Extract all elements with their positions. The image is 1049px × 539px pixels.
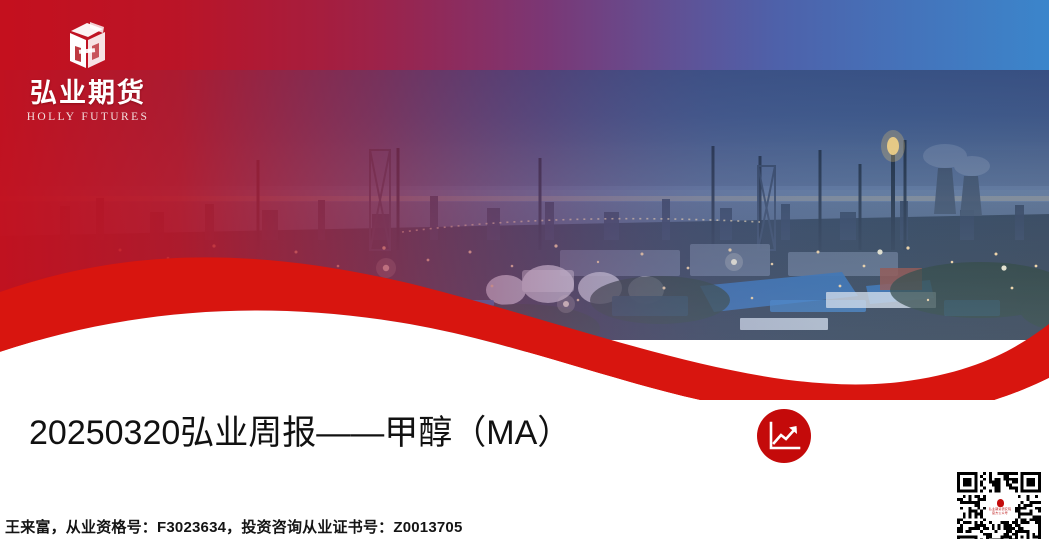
slide-canvas: 弘业期货 HOLLY FUTURES 20250320弘业周报——甲醇（MA） … (0, 0, 1049, 539)
hero-image (0, 0, 1049, 400)
qr-center-logo: 弘业期货研究院 官方公众号 (987, 494, 1013, 520)
qr-logo-line2: 官方公众号 (992, 512, 1008, 516)
slide-title: 20250320弘业周报——甲醇（MA） (29, 414, 571, 453)
qr-code[interactable]: 弘业期货研究院 官方公众号 (957, 472, 1041, 539)
author-credentials: 王来富，从业资格号：F3023634，投资咨询从业证书号：Z0013705 (5, 516, 463, 537)
trending-up-chart-icon (757, 409, 811, 463)
qr-logo-mark (997, 499, 1004, 507)
